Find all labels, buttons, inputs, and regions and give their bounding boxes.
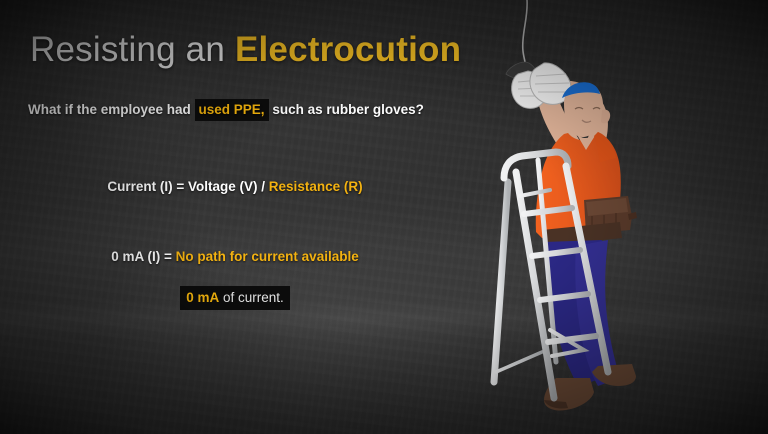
slide-canvas: Resisting an Electrocution What if the e… (0, 0, 768, 434)
background-vignette (0, 0, 768, 434)
